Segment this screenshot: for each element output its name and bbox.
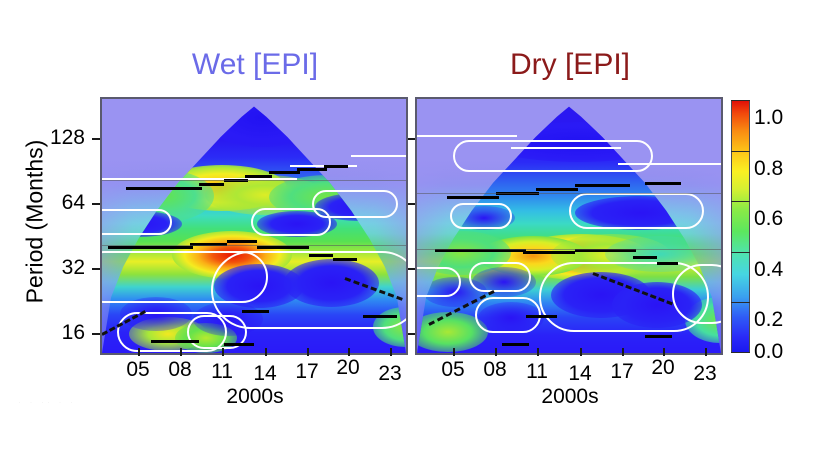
wet-ridge-72mo-s7 xyxy=(324,165,348,168)
wet-ridge-72mo-s5 xyxy=(269,171,299,174)
x-tick-mark-wet-08 xyxy=(180,348,182,356)
x-tick-label-dry-08: 08 xyxy=(475,358,515,382)
wet-ridge-36mo-s6 xyxy=(333,258,357,261)
colorbar-label-0p0: 0.0 xyxy=(754,340,783,364)
x-tick-mark-dry-14 xyxy=(580,348,582,356)
dry-contour-lower-right xyxy=(672,264,723,324)
colorbar-tick-0p4 xyxy=(731,252,750,253)
colorbar-label-0p4: 0.4 xyxy=(754,258,783,282)
wet-ridge-36mo-s1 xyxy=(108,246,193,249)
x-tick-mark-wet-17 xyxy=(307,348,309,356)
colorbar-tick-0p0 xyxy=(731,352,750,353)
dry-contour-lower-left xyxy=(415,267,461,297)
colorbar-tick-0p8 xyxy=(731,151,750,152)
colorbar-label-0p6: 0.6 xyxy=(754,207,783,231)
x-tick-mark-dry-20 xyxy=(663,348,665,356)
x-tick-mark-dry-11 xyxy=(537,348,539,356)
y-axis-title: Period (Months) xyxy=(22,127,49,317)
dry-ridge-72mo-s4 xyxy=(575,184,630,187)
wet-ridge-annual-2012 xyxy=(224,343,254,346)
wavelet-figure: Wet [EPI] Dry [EPI] Period (Months) 128 … xyxy=(0,0,820,461)
wet-contour-2006-42mo xyxy=(100,209,172,235)
dry-contour-2017-52mo xyxy=(569,193,704,229)
dry-ridge-72mo-s1 xyxy=(447,196,499,199)
wet-contour-2018-48mo xyxy=(312,190,398,218)
wet-gridline-72mo xyxy=(102,180,406,181)
wet-ridge-36mo-s3 xyxy=(227,240,257,243)
x-tick-label-dry-23: 23 xyxy=(685,362,725,386)
wet-ridge-36mo-s5 xyxy=(309,254,333,257)
y-tick-label-32: 32 xyxy=(25,256,85,280)
x-tick-label-wet-23: 23 xyxy=(370,362,410,386)
wet-ridge-72mo-s4 xyxy=(245,175,272,178)
x-tick-label-wet-17: 17 xyxy=(287,360,327,384)
x-tick-mark-wet-11 xyxy=(222,348,224,356)
wet-ridge-72mo-s1 xyxy=(126,187,202,190)
wet-ridge-annual-2023 xyxy=(363,315,396,318)
panel-wet[interactable] xyxy=(100,97,408,355)
dry-ridge-72mo-s3 xyxy=(536,188,579,191)
dry-ridge-36mo-s4 xyxy=(633,256,657,259)
wet-contour-upper-step2 xyxy=(351,155,406,157)
dry-ridge-short-2015 xyxy=(502,343,529,346)
x-tick-label-dry-11: 11 xyxy=(517,360,557,384)
dry-contour-2007-47mo xyxy=(450,203,512,229)
y-tick-label-64: 64 xyxy=(25,191,85,215)
wet-ridge-72mo-s2 xyxy=(199,183,223,186)
colorbar-label-1p0: 1.0 xyxy=(754,106,783,130)
x-tick-mark-dry-17 xyxy=(622,348,624,356)
faint-artifact-text: · · ·· · · xyxy=(18,397,76,407)
x-tick-mark-dry-05 xyxy=(453,348,455,356)
colorbar-tick-1p0 xyxy=(731,100,750,101)
x-tick-mark-wet-20 xyxy=(348,348,350,356)
x-axis-title-dry: 2000s xyxy=(510,385,630,409)
dry-contour-150mo-pocket xyxy=(453,140,653,172)
x-tick-label-wet-08: 08 xyxy=(160,358,200,382)
x-tick-label-wet-20: 20 xyxy=(328,356,368,380)
x-tick-mark-wet-23 xyxy=(390,348,392,356)
x-tick-mark-wet-05 xyxy=(138,348,140,356)
colorbar-label-0p2: 0.2 xyxy=(754,308,783,332)
x-tick-mark-wet-14 xyxy=(265,348,267,356)
y-tick-label-16: 16 xyxy=(25,321,85,345)
dry-contour-lower-mid xyxy=(469,262,531,292)
wet-ridge-annual-2005 xyxy=(151,340,200,343)
x-tick-label-dry-05: 05 xyxy=(433,358,473,382)
panel-dry[interactable] xyxy=(415,97,723,355)
colorbar-label-0p8: 0.8 xyxy=(754,157,783,181)
x-tick-mark-dry-08 xyxy=(495,348,497,356)
dry-ridge-36mo-s2 xyxy=(523,251,575,254)
colorbar-tick-0p2 xyxy=(731,302,750,303)
x-tick-label-wet-11: 11 xyxy=(202,360,242,384)
wet-ridge-36mo-s4 xyxy=(257,246,309,249)
dry-ridge-72mo-s5 xyxy=(645,182,681,185)
dry-contour-upper-left xyxy=(417,135,517,137)
dry-gridline-36mo xyxy=(417,249,721,250)
x-tick-label-dry-20: 20 xyxy=(643,356,683,380)
dry-ridge-short-2022 xyxy=(645,335,672,338)
y-tick-label-128: 128 xyxy=(25,126,85,150)
wet-ridge-short-2014 xyxy=(242,310,269,313)
panel-title-dry: Dry [EPI] xyxy=(415,48,725,82)
x-tick-label-dry-17: 17 xyxy=(602,360,642,384)
dry-ridge-36mo-s5 xyxy=(657,262,678,265)
colorbar-tick-0p6 xyxy=(731,201,750,202)
panel-title-wet: Wet [EPI] xyxy=(100,48,410,82)
dry-gridline-72mo xyxy=(417,193,721,194)
x-tick-label-dry-14: 14 xyxy=(560,362,600,386)
wet-ridge-72mo-s6 xyxy=(297,168,327,171)
wet-gridline-36mo xyxy=(102,245,406,246)
x-tick-label-wet-14: 14 xyxy=(245,362,285,386)
x-axis-title-wet: 2000s xyxy=(195,385,315,409)
x-tick-mark-dry-23 xyxy=(705,348,707,356)
dry-ridge-short-2014 xyxy=(526,315,556,318)
colorbar[interactable] xyxy=(731,100,750,353)
x-tick-label-wet-05: 05 xyxy=(118,358,158,382)
